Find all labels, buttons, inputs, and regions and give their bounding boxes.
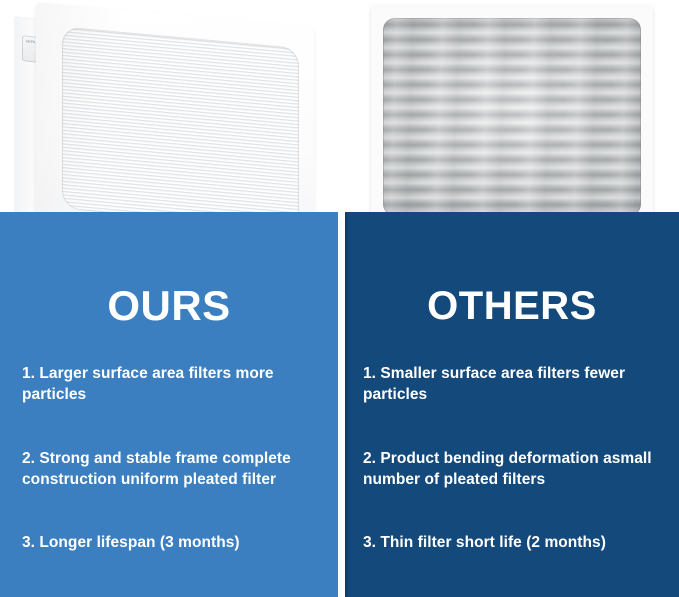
product-photo-others (345, 0, 679, 240)
generic-filter-others-image (371, 6, 653, 228)
panel-ours-heading: OURS (0, 284, 338, 328)
product-photo-ours: HEPA (0, 0, 338, 240)
filter-pleats-coarse (383, 18, 641, 216)
product-photo-row: HEPA (0, 0, 679, 240)
feature-item: 2. Product bending deformation asmall nu… (363, 449, 669, 490)
filter-pleats-dense (62, 26, 299, 230)
panel-ours-feature-list: 1. Larger surface area filters more part… (22, 364, 322, 554)
feature-item: 1. Smaller surface area filters fewer pa… (363, 364, 669, 405)
panel-others-heading: OTHERS (345, 284, 679, 328)
feature-item: 2. Strong and stable frame complete cons… (22, 449, 322, 490)
hepa-filter-ours-image: HEPA (14, 2, 314, 234)
panel-others-feature-list: 1. Smaller surface area filters fewer pa… (363, 364, 669, 554)
feature-item: 3. Longer lifespan (3 months) (22, 533, 322, 554)
feature-item: 1. Larger surface area filters more part… (22, 364, 322, 405)
panel-ours: OURS 1. Larger surface area filters more… (0, 212, 338, 597)
feature-item: 3. Thin filter short life (2 months) (363, 533, 669, 554)
panel-others: OTHERS 1. Smaller surface area filters f… (345, 212, 679, 597)
comparison-infographic: HEPA OURS 1. Larger surface area filters… (0, 0, 679, 597)
filter-front-face (36, 2, 314, 240)
